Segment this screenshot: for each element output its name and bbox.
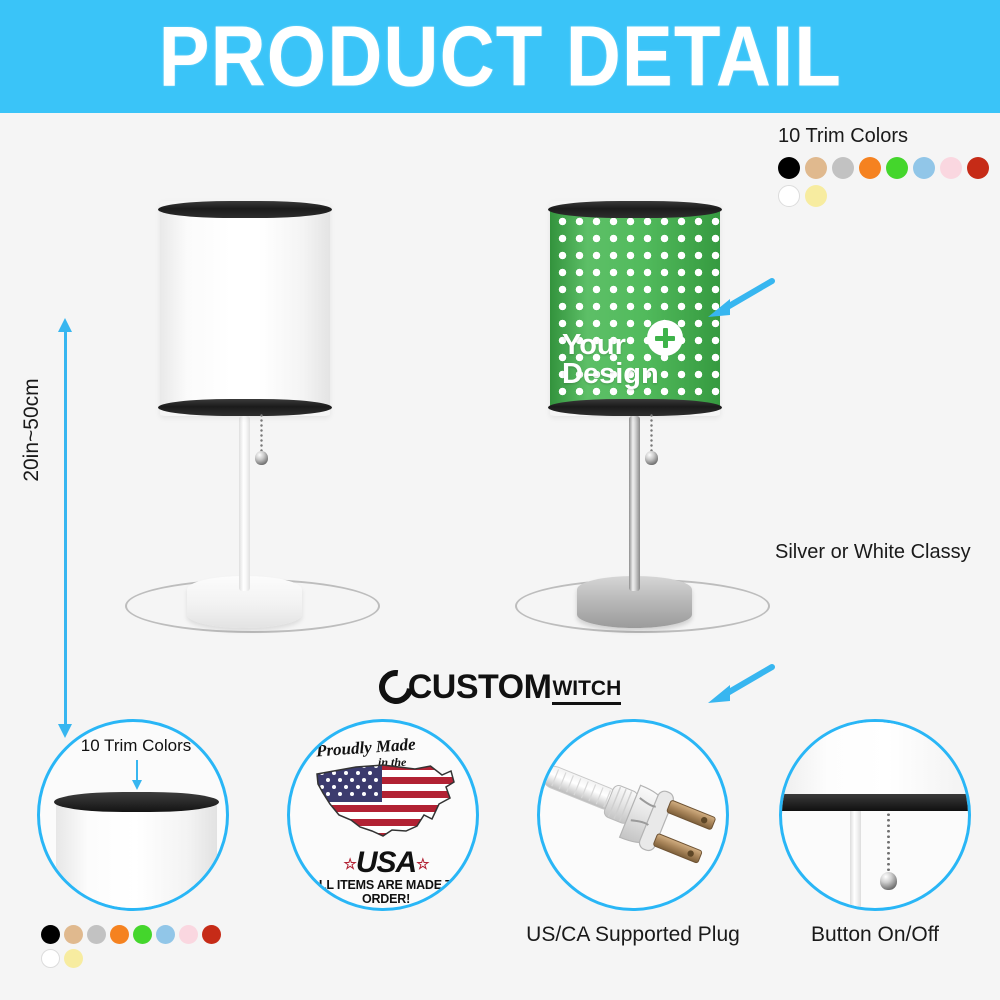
down-arrow-icon — [132, 760, 142, 790]
feature-switch-label: Button On/Off — [750, 923, 1000, 947]
feature-circle — [779, 719, 971, 911]
brand-name-main: CUSTOM — [408, 668, 552, 707]
pull-chain[interactable] — [260, 413, 263, 455]
feature-circle: Proudly Made in the — [287, 719, 479, 911]
trim-swatch-yellow[interactable] — [805, 185, 827, 207]
trim-swatch-white[interactable] — [778, 185, 800, 207]
trim-swatch-gray[interactable] — [87, 925, 106, 944]
usa-badge: Proudly Made in the — [290, 722, 479, 911]
arrow-head — [132, 780, 142, 790]
trim-swatch-green[interactable] — [133, 925, 152, 944]
feature-trim-colors: 10 Trim Colors — [8, 711, 258, 1000]
lamp-green: Your Design — [550, 201, 800, 651]
trim-swatch-pink[interactable] — [940, 157, 962, 179]
design-line-2: Design — [562, 360, 659, 390]
pull-chain-ball[interactable] — [255, 451, 268, 465]
trim-swatch-yellow[interactable] — [64, 949, 83, 968]
shade-closeup — [54, 792, 219, 911]
feature-made-in-usa: Proudly Made in the — [258, 711, 508, 1000]
trim-swatch-red[interactable] — [967, 157, 989, 179]
feature-plug-label: US/CA Supported Plug — [508, 923, 758, 947]
feature-plug: US/CA Supported Plug — [508, 711, 758, 1000]
arrow-stem — [136, 760, 138, 782]
shade-trim-top — [54, 792, 219, 812]
lamp-shade: Your Design — [550, 201, 720, 416]
arrow-up-right-icon — [700, 275, 780, 323]
header-banner: PRODUCT DETAIL — [0, 0, 1000, 113]
page-title: PRODUCT DETAIL — [158, 14, 841, 99]
trim-colors-panel-top: 10 Trim Colors — [778, 125, 1000, 207]
feature-inner-title: 10 Trim Colors — [40, 736, 229, 756]
height-dimension-label: 20in~50cm — [20, 340, 44, 520]
product-detail-infographic: PRODUCT DETAIL 7in~18cm 20in~50cm — [0, 0, 1000, 1000]
brand-logo: CUSTOM WITCH — [0, 663, 1000, 711]
trim-swatch-white[interactable] — [41, 949, 60, 968]
star-icon-right: ☆ — [416, 856, 428, 873]
trim-swatch-black[interactable] — [778, 157, 800, 179]
shade-trim-bottom — [548, 399, 722, 416]
trim-swatch-orange[interactable] — [110, 925, 129, 944]
shade-trim-bottom — [158, 399, 332, 416]
shade-trim-top — [548, 201, 722, 218]
pull-chain[interactable] — [887, 812, 890, 874]
your-design-text: Your Design — [562, 331, 659, 390]
lamp-shade — [160, 201, 330, 416]
shade-surface — [56, 804, 217, 911]
trim-swatch-tan[interactable] — [805, 157, 827, 179]
trim-colors-swatch-row — [778, 157, 1000, 207]
usa-map-flag-icon — [308, 756, 463, 846]
shade-surface — [779, 722, 971, 796]
trim-swatch-light-blue[interactable] — [913, 157, 935, 179]
trim-swatch-black[interactable] — [41, 925, 60, 944]
trim-swatch-red[interactable] — [202, 925, 221, 944]
lamp-pole — [850, 811, 861, 911]
lamp-pole — [239, 416, 250, 591]
usa-badge-note: ALL ITEMS ARE MADE TO ORDER! — [290, 878, 479, 906]
shade-surface: Your Design — [550, 209, 720, 408]
power-plug-icon — [540, 722, 729, 911]
trim-swatch-pink[interactable] — [179, 925, 198, 944]
trim-swatch-light-blue[interactable] — [156, 925, 175, 944]
base-finish-label: Silver or White Classy — [775, 541, 971, 564]
feature-switch: Button On/Off — [750, 711, 1000, 1000]
star-icon-left: ☆ — [343, 856, 355, 873]
trim-colors-swatch-row-bottom — [41, 925, 241, 968]
trim-swatch-tan[interactable] — [64, 925, 83, 944]
usa-word: USA — [356, 846, 416, 879]
trim-callout-arrow — [700, 275, 780, 323]
trim-swatch-orange[interactable] — [859, 157, 881, 179]
trim-colors-title: 10 Trim Colors — [778, 125, 1000, 148]
usa-badge-big-text: ☆USA☆ — [290, 846, 479, 880]
shade-surface — [160, 209, 330, 408]
feature-circle — [537, 719, 729, 911]
pull-chain[interactable] — [650, 413, 653, 455]
lamp-white — [160, 201, 410, 651]
trim-swatch-gray[interactable] — [832, 157, 854, 179]
feature-panels: 10 Trim Colors Proudly Made in the — [0, 711, 1000, 1000]
pull-chain-ball[interactable] — [645, 451, 658, 465]
design-line-1: Your — [562, 331, 659, 361]
pull-chain-ball[interactable] — [880, 872, 897, 890]
lamp-pole — [629, 416, 640, 591]
shade-trim-bottom — [779, 794, 971, 811]
brand-name-sub: WITCH — [552, 677, 621, 705]
feature-circle: 10 Trim Colors — [37, 719, 229, 911]
shade-trim-top — [158, 201, 332, 218]
trim-swatch-green[interactable] — [886, 157, 908, 179]
main-stage: 7in~18cm 20in~50cm — [0, 113, 1000, 673]
